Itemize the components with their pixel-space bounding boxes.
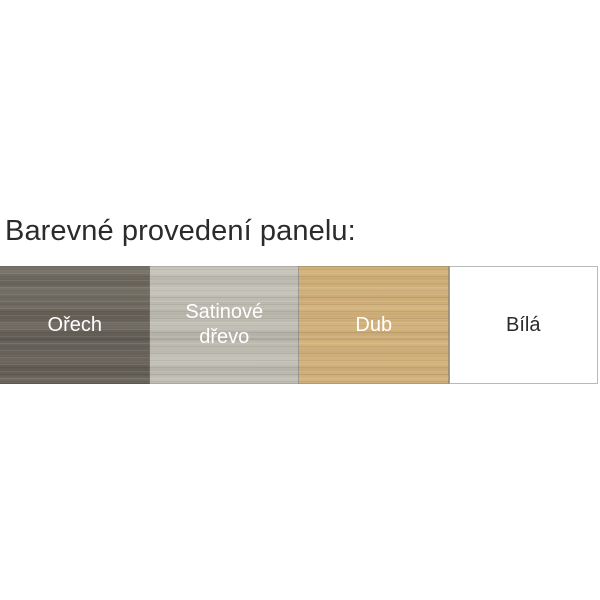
color-swatch-satinove-drevo[interactable]: Satinové dřevo — [150, 266, 300, 384]
swatch-divider — [149, 266, 150, 384]
swatch-bottom-edge — [299, 383, 449, 384]
color-swatch-strip: Ořech Satinové dřevo Dub Bílá — [0, 266, 598, 384]
swatch-divider — [448, 266, 449, 384]
color-swatch-dub[interactable]: Dub — [299, 266, 449, 384]
color-options-panel: Barevné provedení panelu: Ořech Satinové… — [0, 0, 600, 600]
swatch-top-edge — [299, 266, 449, 267]
color-swatch-label: Ořech — [48, 313, 102, 338]
color-swatch-label: Satinové dřevo — [185, 300, 263, 350]
swatch-divider — [298, 266, 299, 384]
color-swatch-orech[interactable]: Ořech — [0, 266, 150, 384]
color-swatch-label: Dub — [355, 313, 392, 338]
color-swatch-label: Bílá — [506, 313, 540, 338]
page-title: Barevné provedení panelu: — [5, 214, 356, 248]
swatch-bottom-edge — [150, 383, 300, 384]
swatch-top-edge — [0, 266, 150, 267]
swatch-bottom-edge — [0, 383, 150, 384]
color-swatch-bila[interactable]: Bílá — [449, 266, 599, 384]
swatch-top-edge — [150, 266, 300, 267]
